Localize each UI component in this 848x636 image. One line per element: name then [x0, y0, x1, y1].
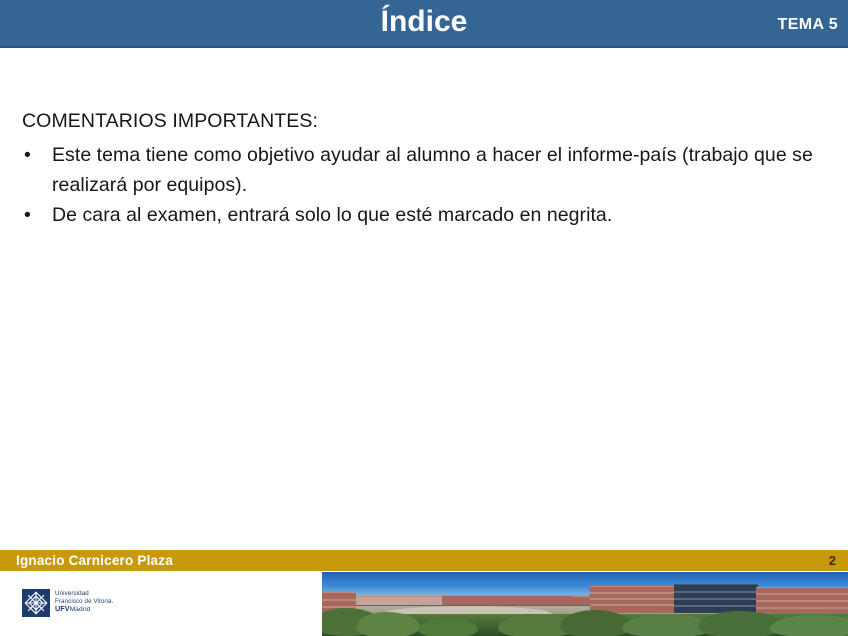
bullet-icon: •: [24, 200, 31, 230]
photo-vegetation: [418, 618, 478, 636]
list-item: • Este tema tiene como objetivo ayudar a…: [22, 140, 834, 200]
photo-vegetation: [356, 612, 420, 636]
footer-author-name: Ignacio Carnicero Plaza: [16, 550, 173, 571]
list-item: • De cara al examen, entrará solo lo que…: [22, 200, 834, 230]
photo-building: [442, 595, 592, 605]
photo-vegetation: [698, 611, 784, 636]
page-title: Índice: [0, 0, 848, 46]
photo-building: [590, 586, 676, 613]
ufv-logo-acronym: UFV: [55, 604, 70, 613]
list-item-text: Este tema tiene como objetivo ayudar al …: [52, 144, 813, 196]
ufv-logo: Universidad Francisco de Vitoria. UFVMad…: [22, 589, 132, 619]
topic-badge: TEMA 5: [778, 0, 838, 46]
bullet-icon: •: [24, 140, 31, 170]
list-item-text: De cara al examen, entrará solo lo que e…: [52, 204, 612, 226]
slide: Índice TEMA 5 COMENTARIOS IMPORTANTES: •…: [0, 0, 848, 636]
ufv-logo-city: Madrid: [70, 606, 91, 613]
slide-content: COMENTARIOS IMPORTANTES: • Este tema tie…: [22, 108, 834, 230]
ufv-logo-mark-icon: [22, 589, 50, 617]
photo-building: [756, 587, 848, 614]
header-bar: Índice TEMA 5: [0, 0, 848, 48]
photo-vegetation: [560, 610, 632, 636]
page-number: 2: [829, 550, 836, 571]
ufv-logo-line1: Universidad: [55, 590, 135, 598]
photo-vegetation: [770, 615, 848, 636]
ufv-logo-text: Universidad Francisco de Vitoria. UFVMad…: [55, 590, 135, 614]
content-intro-heading: COMENTARIOS IMPORTANTES:: [22, 108, 834, 134]
campus-photo-strip: [322, 572, 848, 636]
bullet-list: • Este tema tiene como objetivo ayudar a…: [22, 140, 834, 230]
photo-building: [674, 584, 758, 613]
